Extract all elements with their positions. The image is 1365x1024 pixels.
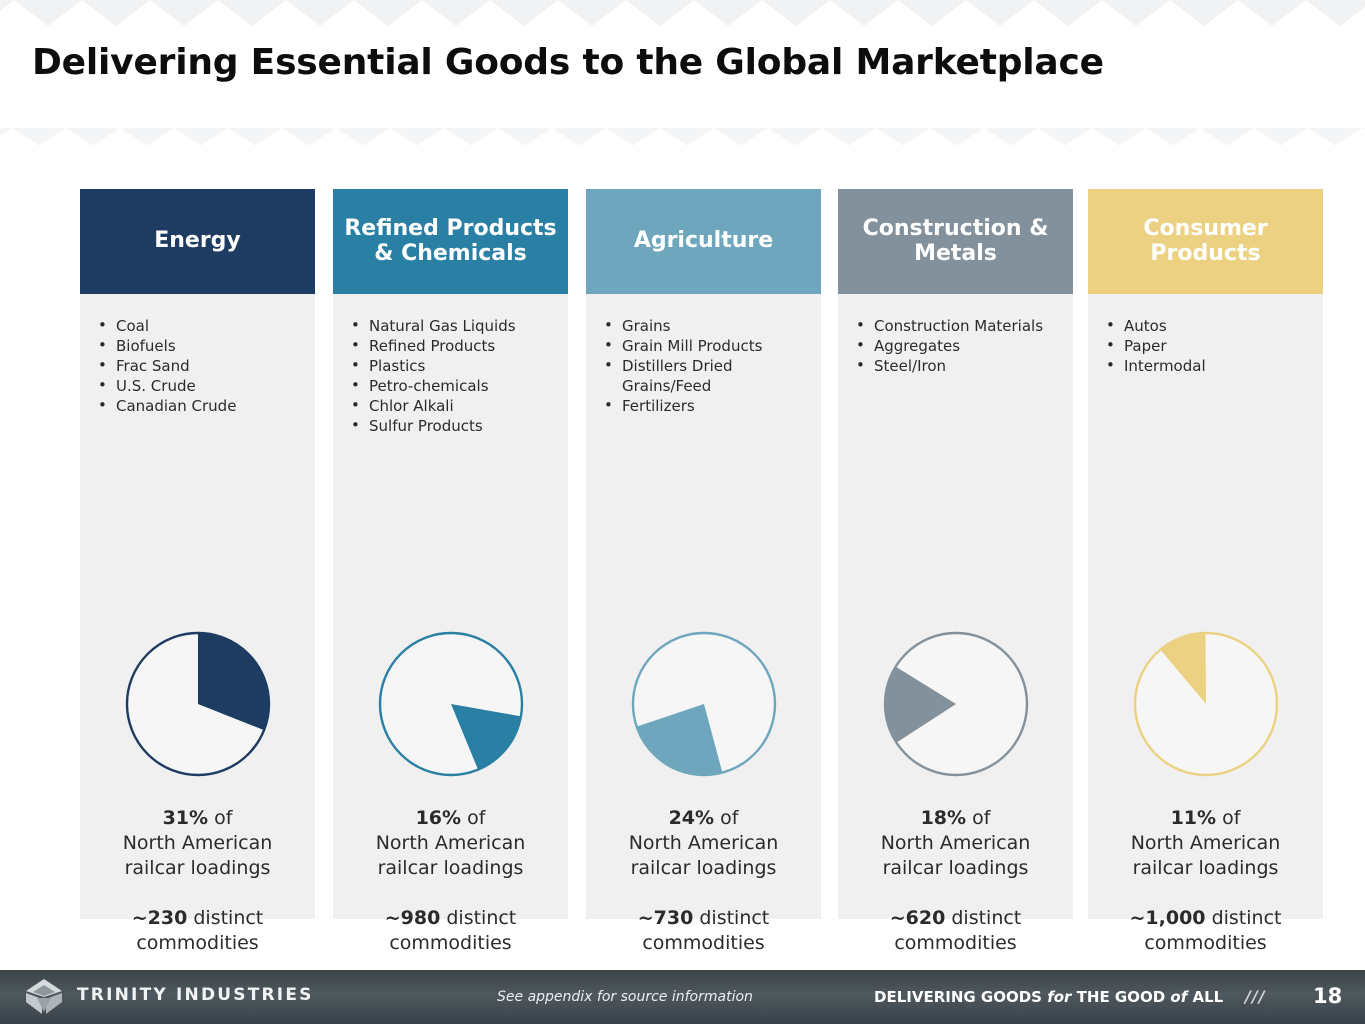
commodity-list-refined-products-and-chemicals: Natural Gas LiquidsRefined ProductsPlast…	[333, 294, 568, 436]
percent-value: 16%	[416, 807, 461, 829]
column-header-label: Energy	[154, 229, 241, 254]
list-item: Intermodal	[1122, 356, 1313, 376]
chevron-shape	[958, 128, 1010, 145]
percent-suffix: of	[1216, 807, 1240, 829]
list-item: Canadian Crude	[114, 396, 305, 416]
column-body-refined-products-and-chemicals: Natural Gas LiquidsRefined ProductsPlast…	[333, 294, 568, 919]
chevron-shape	[864, 0, 932, 26]
chevron-shape	[1282, 128, 1334, 145]
pie-chart-2	[629, 629, 779, 779]
list-item: Autos	[1122, 316, 1313, 336]
commodities-value: ~980	[385, 907, 441, 929]
chevron-shape	[1000, 0, 1068, 26]
column-header-energy: Energy	[80, 189, 315, 294]
list-item: Aggregates	[872, 336, 1063, 356]
chevron-shape	[1204, 0, 1272, 26]
pie-chart-wrapper-refined-products-and-chemicals	[333, 629, 568, 779]
commodities-line: ~1,000 distinct	[1088, 906, 1323, 931]
chevron-shape	[40, 128, 92, 145]
column-stats-energy: 31% ofNorth Americanrailcar loadings~230…	[80, 806, 315, 956]
percent-line: 31% of	[80, 806, 315, 831]
percent-value: 11%	[1171, 807, 1216, 829]
pie-chart-wrapper-agriculture	[586, 629, 821, 779]
list-item: Grain Mill Products	[620, 336, 811, 356]
footer-brand: TRINITY INDUSTRIES	[77, 985, 314, 1005]
column-body-agriculture: GrainsGrain Mill ProductsDistillers Drie…	[586, 294, 821, 919]
footer-tagline: DELIVERING GOODS for THE GOOD of ALL	[874, 988, 1223, 1006]
chevron-shape	[1136, 0, 1204, 26]
commodity-list-construction-and-metals: Construction MaterialsAggregatesSteel/Ir…	[838, 294, 1073, 376]
page-title: Delivering Essential Goods to the Global…	[32, 42, 1104, 83]
commodities-line2: commodities	[1088, 931, 1323, 956]
column-stats-construction-and-metals: 18% ofNorth Americanrailcar loadings~620…	[838, 806, 1073, 956]
chevron-shape	[148, 128, 200, 145]
list-item: Steel/Iron	[872, 356, 1063, 376]
pie-chart-3	[881, 629, 1031, 779]
column-header-agriculture: Agriculture	[586, 189, 821, 294]
footer-source-note: See appendix for source information	[497, 989, 753, 1005]
chevron-shape	[1272, 0, 1340, 26]
commodity-list-energy: CoalBiofuelsFrac SandU.S. CrudeCanadian …	[80, 294, 315, 416]
percent-line3: railcar loadings	[586, 856, 821, 881]
column-stats-agriculture: 24% ofNorth Americanrailcar loadings~730…	[586, 806, 821, 956]
chevron-shape	[0, 128, 38, 145]
list-item: Chlor Alkali	[367, 396, 558, 416]
tagline-of: of	[1170, 988, 1187, 1006]
chevron-shape	[796, 128, 848, 145]
chevron-shape	[634, 128, 686, 145]
commodities-suffix: distinct	[945, 907, 1021, 929]
commodities-value: ~620	[890, 907, 946, 929]
mid-chevron-band	[0, 128, 1365, 145]
pie-chart-0	[123, 629, 273, 779]
percent-suffix: of	[208, 807, 232, 829]
chevron-shape	[94, 128, 146, 145]
percent-line2: North American	[1088, 831, 1323, 856]
percent-line2: North American	[80, 831, 315, 856]
list-item: Biofuels	[114, 336, 305, 356]
chevron-shape	[660, 0, 728, 26]
commodity-list-consumer-products: AutosPaperIntermodal	[1088, 294, 1323, 376]
chevron-shape	[252, 0, 320, 26]
list-item: Frac Sand	[114, 356, 305, 376]
column-stats-refined-products-and-chemicals: 16% ofNorth Americanrailcar loadings~980…	[333, 806, 568, 956]
commodities-line: ~620 distinct	[838, 906, 1073, 931]
category-column-construction-and-metals[interactable]: Construction & MetalsConstruction Materi…	[838, 189, 1073, 919]
pie-chart-wrapper-construction-and-metals	[838, 629, 1073, 779]
pie-chart-wrapper-energy	[80, 629, 315, 779]
percent-value: 31%	[163, 807, 208, 829]
chevron-shape	[1336, 128, 1365, 145]
chevron-shape	[48, 0, 116, 26]
chevron-shape	[418, 128, 470, 145]
column-stats-consumer-products: 11% ofNorth Americanrailcar loadings~1,0…	[1088, 806, 1323, 956]
percent-line: 24% of	[586, 806, 821, 831]
list-item: Construction Materials	[872, 316, 1063, 336]
chevron-shape	[1120, 128, 1172, 145]
commodities-suffix: distinct	[1206, 907, 1282, 929]
chevron-shape	[388, 0, 456, 26]
percent-line2: North American	[586, 831, 821, 856]
pie-chart-1	[376, 629, 526, 779]
chevron-shape	[526, 128, 578, 145]
chevron-shape	[850, 128, 902, 145]
percent-line: 18% of	[838, 806, 1073, 831]
column-body-construction-and-metals: Construction MaterialsAggregatesSteel/Ir…	[838, 294, 1073, 919]
commodities-suffix: distinct	[693, 907, 769, 929]
percent-line3: railcar loadings	[1088, 856, 1323, 881]
column-header-consumer-products: Consumer Products	[1088, 189, 1323, 294]
chevron-shape	[116, 0, 184, 26]
percent-value: 18%	[921, 807, 966, 829]
chevron-shape	[688, 128, 740, 145]
chevron-shape	[796, 0, 864, 26]
list-item: Natural Gas Liquids	[367, 316, 558, 336]
chevron-shape	[320, 0, 388, 26]
percent-suffix: of	[966, 807, 990, 829]
column-body-consumer-products: AutosPaperIntermodal11% ofNorth American…	[1088, 294, 1323, 919]
commodities-value: ~1,000	[1130, 907, 1206, 929]
list-item: Refined Products	[367, 336, 558, 356]
footer-page-number: 18	[1313, 984, 1342, 1008]
list-item: Grains	[620, 316, 811, 336]
column-body-energy: CoalBiofuelsFrac SandU.S. CrudeCanadian …	[80, 294, 315, 919]
column-header-refined-products-and-chemicals: Refined Products & Chemicals	[333, 189, 568, 294]
commodities-line2: commodities	[838, 931, 1073, 956]
chevron-shape	[310, 128, 362, 145]
commodities-line: ~230 distinct	[80, 906, 315, 931]
chevron-shape	[932, 0, 1000, 26]
commodities-suffix: distinct	[187, 907, 263, 929]
slide-footer: TRINITY INDUSTRIES See appendix for sour…	[0, 970, 1365, 1024]
percent-line3: railcar loadings	[333, 856, 568, 881]
list-item: Distillers Dried Grains/Feed	[620, 356, 811, 396]
list-item: Fertilizers	[620, 396, 811, 416]
list-item: Paper	[1122, 336, 1313, 356]
category-column-consumer-products[interactable]: Consumer ProductsAutosPaperIntermodal11%…	[1088, 189, 1323, 919]
column-header-label: Construction & Metals	[846, 217, 1065, 266]
commodities-suffix: distinct	[440, 907, 516, 929]
list-item: U.S. Crude	[114, 376, 305, 396]
column-header-label: Consumer Products	[1096, 217, 1315, 266]
pie-chart-4	[1131, 629, 1281, 779]
tagline-part-a: DELIVERING GOODS	[874, 988, 1047, 1006]
list-item: Plastics	[367, 356, 558, 376]
chevron-shape	[456, 0, 524, 26]
tagline-part-b: THE GOOD	[1071, 988, 1170, 1006]
chevron-shape	[202, 128, 254, 145]
chevron-shape	[904, 128, 956, 145]
chevron-shape	[0, 0, 48, 26]
chevron-shape	[1228, 128, 1280, 145]
chevron-shape	[1340, 0, 1365, 26]
chevron-shape	[256, 128, 308, 145]
chevron-shape	[742, 128, 794, 145]
trinity-logo-icon	[24, 978, 64, 1016]
commodities-value: ~730	[638, 907, 694, 929]
chevron-shape	[1012, 128, 1064, 145]
chevron-shape	[184, 0, 252, 26]
list-item: Sulfur Products	[367, 416, 558, 436]
chevron-shape	[1174, 128, 1226, 145]
percent-suffix: of	[714, 807, 738, 829]
commodities-line: ~980 distinct	[333, 906, 568, 931]
percent-line3: railcar loadings	[80, 856, 315, 881]
commodity-list-agriculture: GrainsGrain Mill ProductsDistillers Drie…	[586, 294, 821, 416]
chevron-shape	[1068, 0, 1136, 26]
list-item: Coal	[114, 316, 305, 336]
column-header-label: Refined Products & Chemicals	[341, 217, 560, 266]
list-item: Petro-chemicals	[367, 376, 558, 396]
chevron-shape	[364, 128, 416, 145]
chevron-shape	[592, 0, 660, 26]
percent-line3: railcar loadings	[838, 856, 1073, 881]
category-column-refined-products-and-chemicals[interactable]: Refined Products & ChemicalsNatural Gas …	[333, 189, 568, 919]
percent-line: 11% of	[1088, 806, 1323, 831]
category-column-agriculture[interactable]: AgricultureGrainsGrain Mill ProductsDist…	[586, 189, 821, 919]
footer-slashes: ///	[1245, 987, 1266, 1006]
category-columns: EnergyCoalBiofuelsFrac SandU.S. CrudeCan…	[0, 189, 1365, 919]
commodities-line2: commodities	[80, 931, 315, 956]
commodities-line: ~730 distinct	[586, 906, 821, 931]
category-column-energy[interactable]: EnergyCoalBiofuelsFrac SandU.S. CrudeCan…	[80, 189, 315, 919]
commodities-line2: commodities	[586, 931, 821, 956]
tagline-for: for	[1047, 988, 1071, 1006]
chevron-shape	[524, 0, 592, 26]
percent-line: 16% of	[333, 806, 568, 831]
tagline-part-c: ALL	[1187, 988, 1223, 1006]
percent-suffix: of	[461, 807, 485, 829]
percent-value: 24%	[669, 807, 714, 829]
column-header-construction-and-metals: Construction & Metals	[838, 189, 1073, 294]
pie-chart-wrapper-consumer-products	[1088, 629, 1323, 779]
percent-line2: North American	[333, 831, 568, 856]
commodities-value: ~230	[132, 907, 188, 929]
column-header-label: Agriculture	[634, 229, 773, 254]
chevron-shape	[580, 128, 632, 145]
chevron-shape	[728, 0, 796, 26]
top-chevron-band	[0, 0, 1365, 26]
percent-line2: North American	[838, 831, 1073, 856]
chevron-shape	[1066, 128, 1118, 145]
chevron-shape	[472, 128, 524, 145]
commodities-line2: commodities	[333, 931, 568, 956]
